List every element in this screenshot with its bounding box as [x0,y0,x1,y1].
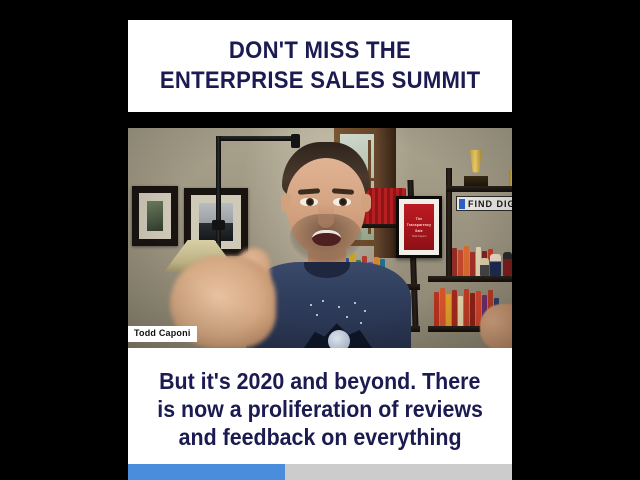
shirt-graphic-print [300,298,376,348]
framed-artwork-left [132,186,178,246]
headline-line-2: ENTERPRISE SALES SUMMIT [160,66,480,96]
shelf-plank-upper-right [446,186,512,192]
caption-line-2: is now a proliferation of reviews [157,395,483,423]
framed-book-poster: The Transparency Sale Todd Caponi [396,196,442,258]
speaker-ear-left [281,194,291,212]
poster-title-line-2: Transparency [407,223,431,227]
speaker-ear-right [361,194,371,212]
video-progress-fill[interactable] [128,464,285,480]
speaker-eye-right [333,198,351,206]
boom-arm-horizontal [216,136,298,141]
poster-title-line-1: The [416,217,423,221]
artwork-image [147,201,163,231]
poster-author: Todd Caponi [412,235,427,238]
poster-artwork: The Transparency Sale Todd Caponi [404,204,434,250]
headline-card: DON'T MISS THE ENTERPRISE SALES SUMMIT [128,20,512,112]
caption-line-3: and feedback on everything [179,423,462,451]
video-progress-bar[interactable] [128,464,512,480]
speaker-name-label: Todd Caponi [128,326,197,342]
speaker-nose [318,202,334,228]
screen: DON'T MISS THE ENTERPRISE SALES SUMMIT [0,0,640,480]
speaker-mouth [312,230,341,246]
caption-card: But it's 2020 and beyond. There is now a… [128,348,512,464]
figurine-center [490,254,501,276]
headline-line-1: DON'T MISS THE [229,36,411,66]
speaker-eye-left [300,198,318,206]
shelf-plank-middle-right [428,276,512,282]
figurine-right [503,252,512,276]
sign-text: FIND DIG [468,199,512,209]
speaker-hand-right [480,304,512,348]
sign-blue-block [459,199,465,209]
video-player[interactable]: DON'T MISS THE ENTERPRISE SALES SUMMIT [128,0,512,480]
speaker-person [256,142,398,348]
shirt-graphic-moon [328,330,350,348]
boom-arm-clamp [212,220,225,230]
find-dig-sign: FIND DIG [456,196,512,211]
trophy-secondary [509,170,512,186]
figurine-small [480,258,489,276]
video-frame[interactable]: The Transparency Sale Todd Caponi FIND D… [128,128,512,348]
caption-line-1: But it's 2020 and beyond. There [159,367,480,395]
poster-title-line-3: Sale [415,229,423,233]
trophy-base [464,176,488,186]
